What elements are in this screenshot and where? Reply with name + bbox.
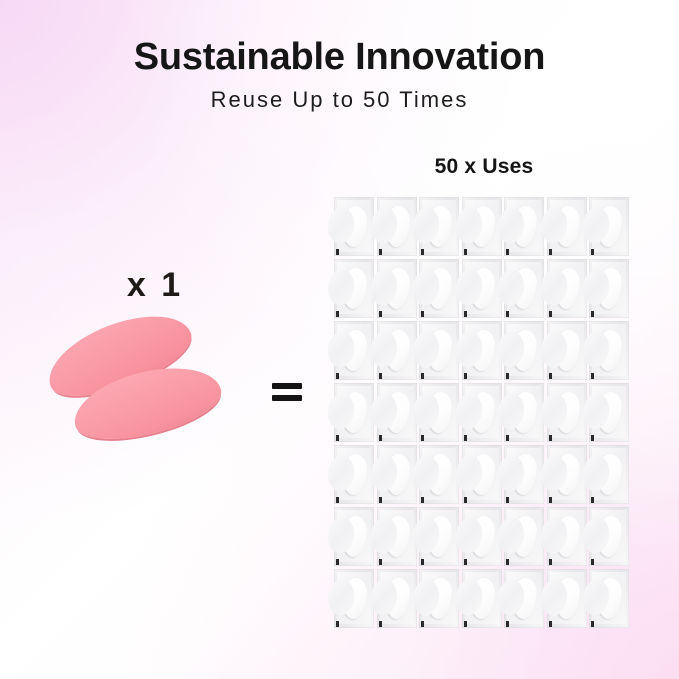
disposable-patch-cell [334, 569, 374, 628]
disposable-patch-cell [334, 321, 374, 380]
sachet-tear-notch-icon [591, 621, 594, 627]
sachet-tear-notch-icon [421, 621, 424, 627]
sachet-tear-notch-icon [464, 435, 467, 441]
sachet-tear-notch-icon [464, 497, 467, 503]
sachet-tear-notch-icon [549, 435, 552, 441]
sachet-tear-notch-icon [506, 373, 509, 379]
sachet-tear-notch-icon [421, 373, 424, 379]
sachet-tear-notch-icon [379, 559, 382, 565]
sachet-tear-notch-icon [336, 435, 339, 441]
sachet-tear-notch-icon [421, 435, 424, 441]
sachet-tear-notch-icon [379, 373, 382, 379]
sachet-tear-notch-icon [506, 249, 509, 255]
disposable-patch-cell [334, 259, 374, 318]
reusable-eye-pads-group [28, 318, 243, 483]
sachet-tear-notch-icon [549, 249, 552, 255]
sachet-tear-notch-icon [591, 373, 594, 379]
disposable-patch-cell [504, 197, 544, 256]
disposable-patch-cell [589, 321, 629, 380]
disposable-patch-cell [589, 445, 629, 504]
uses-grid-caption: 50 x Uses [334, 155, 634, 179]
sachet-tear-notch-icon [379, 621, 382, 627]
sachet-tear-notch-icon [379, 311, 382, 317]
sachet-tear-notch-icon [464, 311, 467, 317]
sachet-tear-notch-icon [336, 621, 339, 627]
sachet-tear-notch-icon [506, 311, 509, 317]
sachet-tear-notch-icon [591, 559, 594, 565]
sachet-tear-notch-icon [549, 373, 552, 379]
disposable-patch-cell [462, 569, 502, 628]
disposable-patch-cell [547, 197, 587, 256]
disposable-patch-cell [419, 569, 459, 628]
disposable-patch-cell [547, 383, 587, 442]
sachet-tear-notch-icon [336, 373, 339, 379]
disposable-patch-cell [419, 383, 459, 442]
disposable-patch-cell [504, 321, 544, 380]
sachet-tear-notch-icon [506, 621, 509, 627]
disposable-patch-cell [547, 569, 587, 628]
disposable-patch-cell [377, 321, 417, 380]
disposable-patch-cell [419, 259, 459, 318]
equals-bar-lower [272, 395, 302, 401]
sachet-tear-notch-icon [506, 559, 509, 565]
disposable-patch-cell [504, 383, 544, 442]
sachet-tear-notch-icon [549, 497, 552, 503]
disposable-patch-cell [462, 383, 502, 442]
disposable-patch-cell [589, 507, 629, 566]
sachet-tear-notch-icon [591, 249, 594, 255]
disposable-patch-grid [334, 197, 629, 628]
disposable-patch-cell [547, 321, 587, 380]
disposable-patch-cell [547, 445, 587, 504]
sachet-tear-notch-icon [421, 497, 424, 503]
sachet-tear-notch-icon [591, 497, 594, 503]
sachet-tear-notch-icon [506, 497, 509, 503]
disposable-patch-cell [589, 569, 629, 628]
disposable-patch-cell [377, 197, 417, 256]
disposable-patch-cell [334, 507, 374, 566]
disposable-patch-cell [377, 383, 417, 442]
disposable-patch-cell [462, 259, 502, 318]
sachet-tear-notch-icon [379, 435, 382, 441]
sachet-tear-notch-icon [421, 249, 424, 255]
sachet-tear-notch-icon [336, 249, 339, 255]
disposable-patch-cell [377, 445, 417, 504]
disposable-patch-cell [462, 507, 502, 566]
sachet-tear-notch-icon [379, 497, 382, 503]
sachet-tear-notch-icon [379, 249, 382, 255]
equals-bar-upper [272, 383, 302, 389]
sachet-tear-notch-icon [421, 311, 424, 317]
sachet-tear-notch-icon [506, 435, 509, 441]
disposable-patch-cell [419, 321, 459, 380]
sachet-tear-notch-icon [464, 373, 467, 379]
sustainable-innovation-infographic: Sustainable Innovation Reuse Up to 50 Ti… [0, 0, 679, 679]
sachet-tear-notch-icon [549, 559, 552, 565]
disposable-patch-cell [377, 507, 417, 566]
disposable-patch-cell [504, 445, 544, 504]
sachet-tear-notch-icon [421, 559, 424, 565]
disposable-patch-cell [419, 507, 459, 566]
disposable-patch-cell [504, 259, 544, 318]
disposable-patch-cell [589, 383, 629, 442]
sachet-tear-notch-icon [591, 311, 594, 317]
disposable-patch-cell [462, 197, 502, 256]
sachet-tear-notch-icon [336, 311, 339, 317]
sachet-tear-notch-icon [336, 497, 339, 503]
sachet-tear-notch-icon [464, 621, 467, 627]
sachet-tear-notch-icon [464, 559, 467, 565]
reusable-eye-pad-bottom [67, 355, 228, 451]
disposable-patch-cell [547, 259, 587, 318]
sachet-tear-notch-icon [591, 435, 594, 441]
disposable-patch-cell [462, 321, 502, 380]
disposable-patch-cell [377, 259, 417, 318]
disposable-patch-cell [547, 507, 587, 566]
disposable-patch-cell [504, 507, 544, 566]
sachet-tear-notch-icon [549, 621, 552, 627]
disposable-patch-cell [504, 569, 544, 628]
sachet-tear-notch-icon [336, 559, 339, 565]
disposable-patch-cell [334, 197, 374, 256]
disposable-patch-cell [334, 445, 374, 504]
sachet-tear-notch-icon [464, 249, 467, 255]
disposable-patch-cell [589, 259, 629, 318]
equals-sign [272, 383, 302, 401]
disposable-patch-cell [419, 197, 459, 256]
disposable-patch-cell [377, 569, 417, 628]
disposable-patch-cell [334, 383, 374, 442]
sachet-tear-notch-icon [549, 311, 552, 317]
page-subtitle: Reuse Up to 50 Times [0, 87, 679, 113]
page-title: Sustainable Innovation [0, 38, 679, 78]
disposable-patch-cell [419, 445, 459, 504]
disposable-patch-cell [589, 197, 629, 256]
disposable-patch-cell [462, 445, 502, 504]
